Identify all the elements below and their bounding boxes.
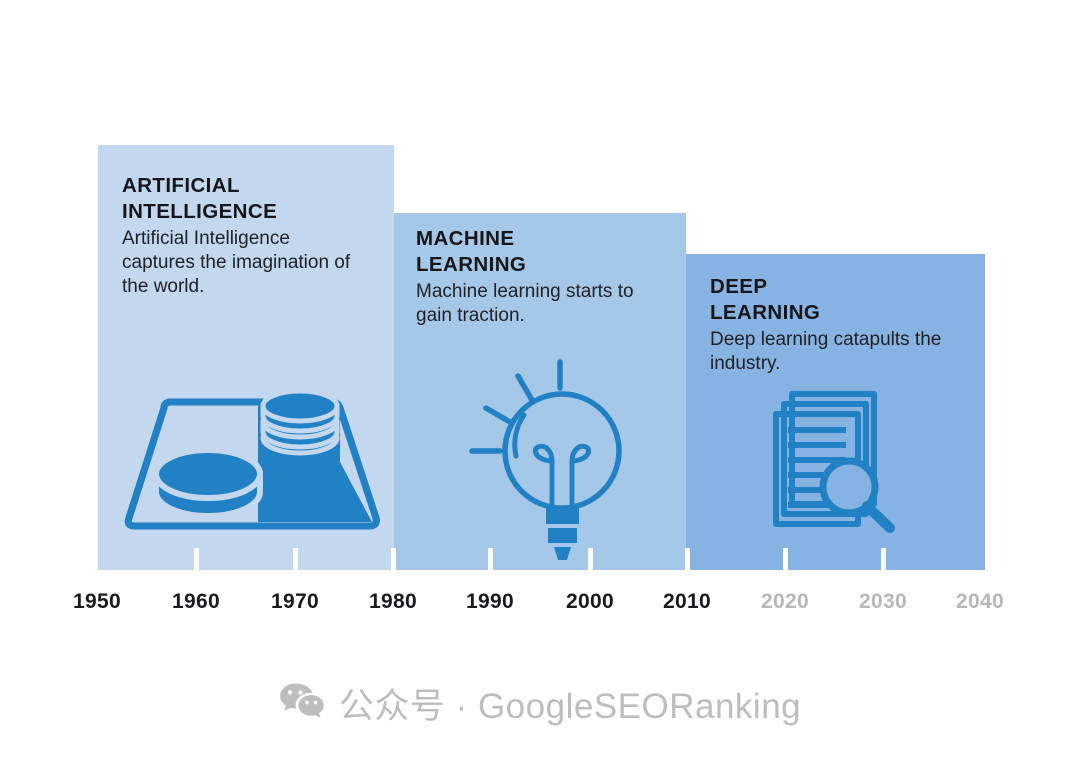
axis-year-label: 1980 [343,590,443,614]
axis-year-label: 2030 [833,590,933,614]
axis-year-label: 2010 [637,590,737,614]
axis-year-label: 2020 [735,590,835,614]
body-deep-learning: Deep learning catapults the industry. [710,328,968,376]
heading-machine-learning: MACHINE LEARNING [416,226,664,278]
text-block-machine-learning: MACHINE LEARNING Machine learning starts… [416,226,664,328]
body-machine-learning: Machine learning starts to gain traction… [416,280,664,328]
heading-deep-learning: DEEP LEARNING [710,274,968,326]
wechat-icon [279,681,325,726]
axis-year-label: 1960 [146,590,246,614]
data-platform-disks-icon [118,392,386,542]
axis-year-label: 1950 [47,590,147,614]
watermark-text: 公众号 · GoogleSEORanking [339,678,801,729]
text-block-artificial-intelligence: ARTIFICIAL INTELLIGENCE Artificial Intel… [122,173,362,299]
lightbulb-idea-icon [460,358,640,570]
text-block-deep-learning: DEEP LEARNING Deep learning catapults th… [710,274,968,376]
axis-year-label: 2000 [540,590,640,614]
heading-artificial-intelligence: ARTIFICIAL INTELLIGENCE [122,173,362,225]
axis-year-label: 1970 [245,590,345,614]
axis-year-label: 1990 [440,590,540,614]
watermark: 公众号 · GoogleSEORanking [0,678,1080,729]
infographic-canvas: ARTIFICIAL INTELLIGENCE Artificial Intel… [0,0,1080,764]
body-artificial-intelligence: Artificial Intelligence captures the ima… [122,227,362,299]
axis-year-label: 2040 [930,590,1030,614]
documents-magnifier-icon [762,382,914,552]
